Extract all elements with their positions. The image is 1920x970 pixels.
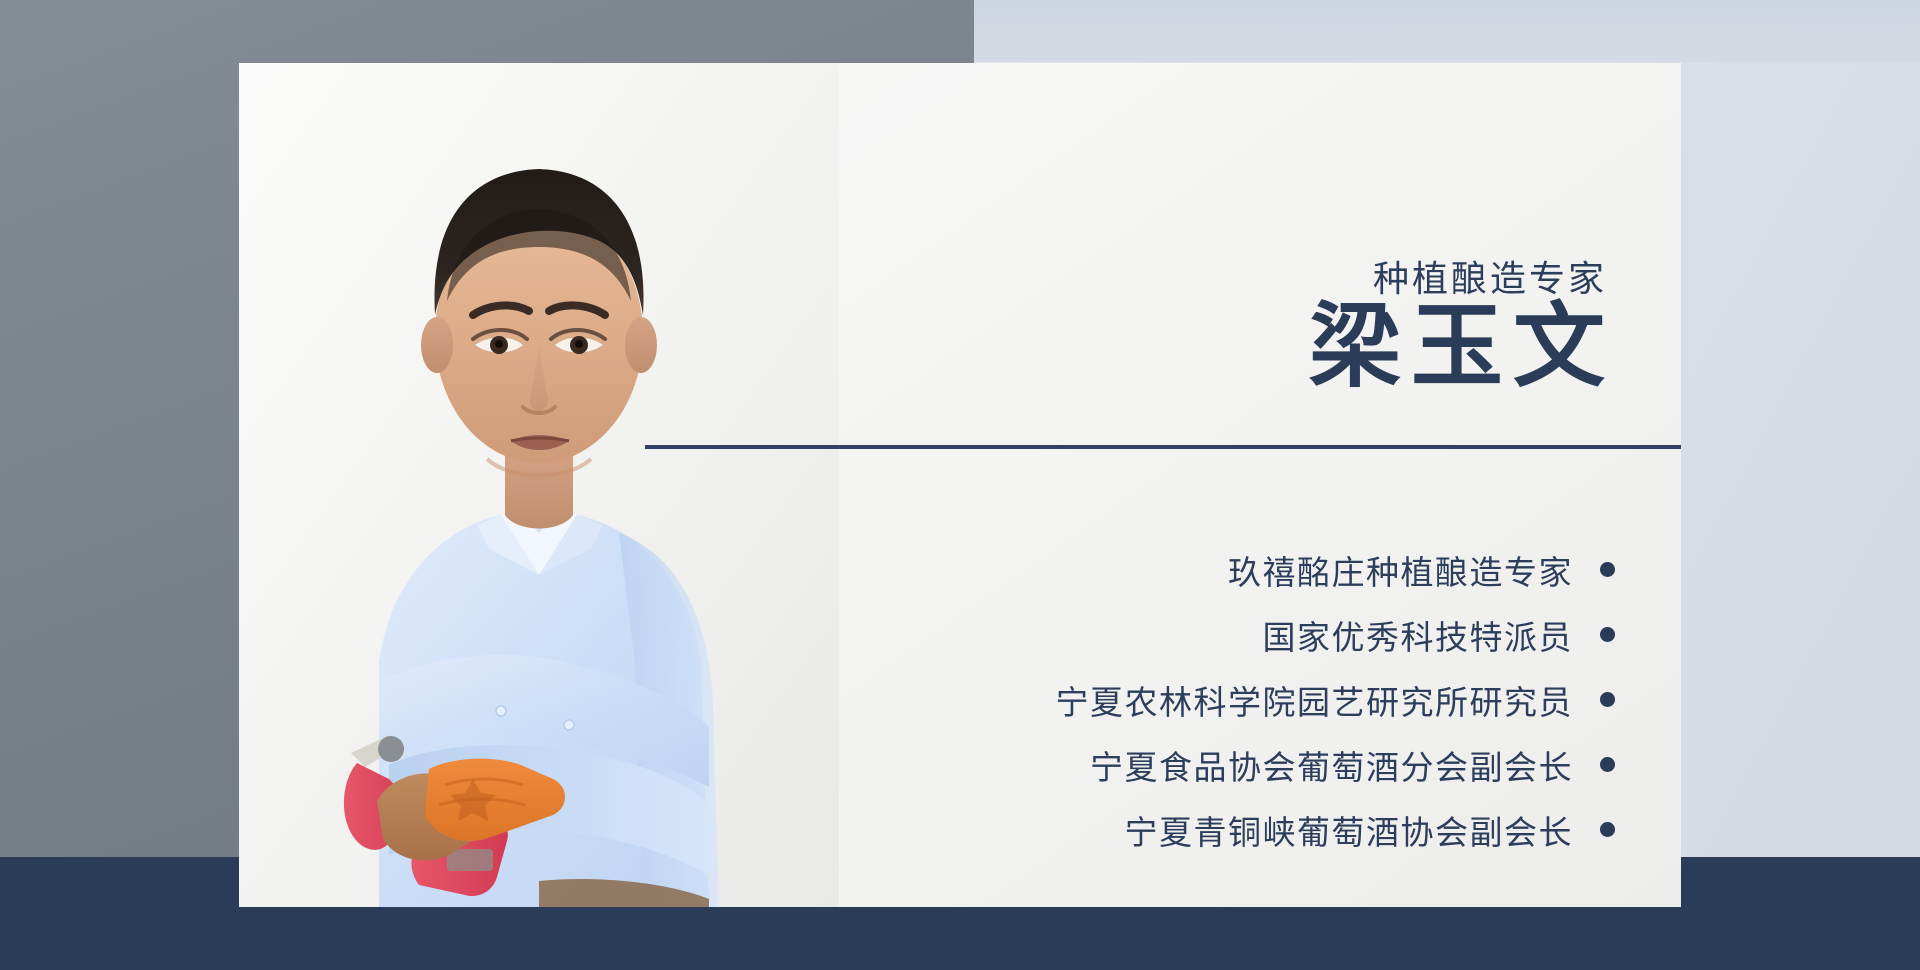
profile-card: 种植酿造专家 梁玉文 玖禧酩庄种植酿造专家 国家优秀科技特派员 宁夏农林科学院园…: [239, 63, 1681, 907]
list-item: 宁夏食品协会葡萄酒分会副会长: [835, 732, 1615, 797]
divider: [645, 445, 1681, 449]
page-subtitle: 种植酿造专家: [1373, 250, 1607, 302]
credential-text: 宁夏食品协会葡萄酒分会副会长: [1090, 741, 1573, 789]
expert-portrait-photo: [239, 63, 839, 907]
portrait-container: [239, 63, 839, 907]
list-item: 国家优秀科技特派员: [835, 602, 1615, 667]
bullet-dot-icon: [1600, 627, 1615, 642]
bullet-dot-icon: [1600, 822, 1615, 837]
credential-text: 玖禧酩庄种植酿造专家: [1228, 546, 1573, 594]
expert-name: 梁玉文: [1299, 299, 1615, 396]
bullet-dot-icon: [1600, 562, 1615, 577]
credential-text: 国家优秀科技特派员: [1263, 611, 1574, 659]
bullet-dot-icon: [1600, 692, 1615, 707]
list-item: 宁夏农林科学院园艺研究所研究员: [835, 667, 1615, 732]
bullet-dot-icon: [1600, 757, 1615, 772]
list-item: 玖禧酩庄种植酿造专家: [835, 537, 1615, 602]
credential-text: 宁夏青铜峡葡萄酒协会副会长: [1125, 806, 1574, 854]
credential-list: 玖禧酩庄种植酿造专家 国家优秀科技特派员 宁夏农林科学院园艺研究所研究员 宁夏食…: [835, 537, 1615, 862]
divider-line: [645, 445, 1681, 449]
profile-banner: 种植酿造专家 梁玉文 玖禧酩庄种植酿造专家 国家优秀科技特派员 宁夏农林科学院园…: [0, 0, 1920, 970]
credential-text: 宁夏农林科学院园艺研究所研究员: [1056, 676, 1574, 724]
list-item: 宁夏青铜峡葡萄酒协会副会长: [835, 797, 1615, 862]
